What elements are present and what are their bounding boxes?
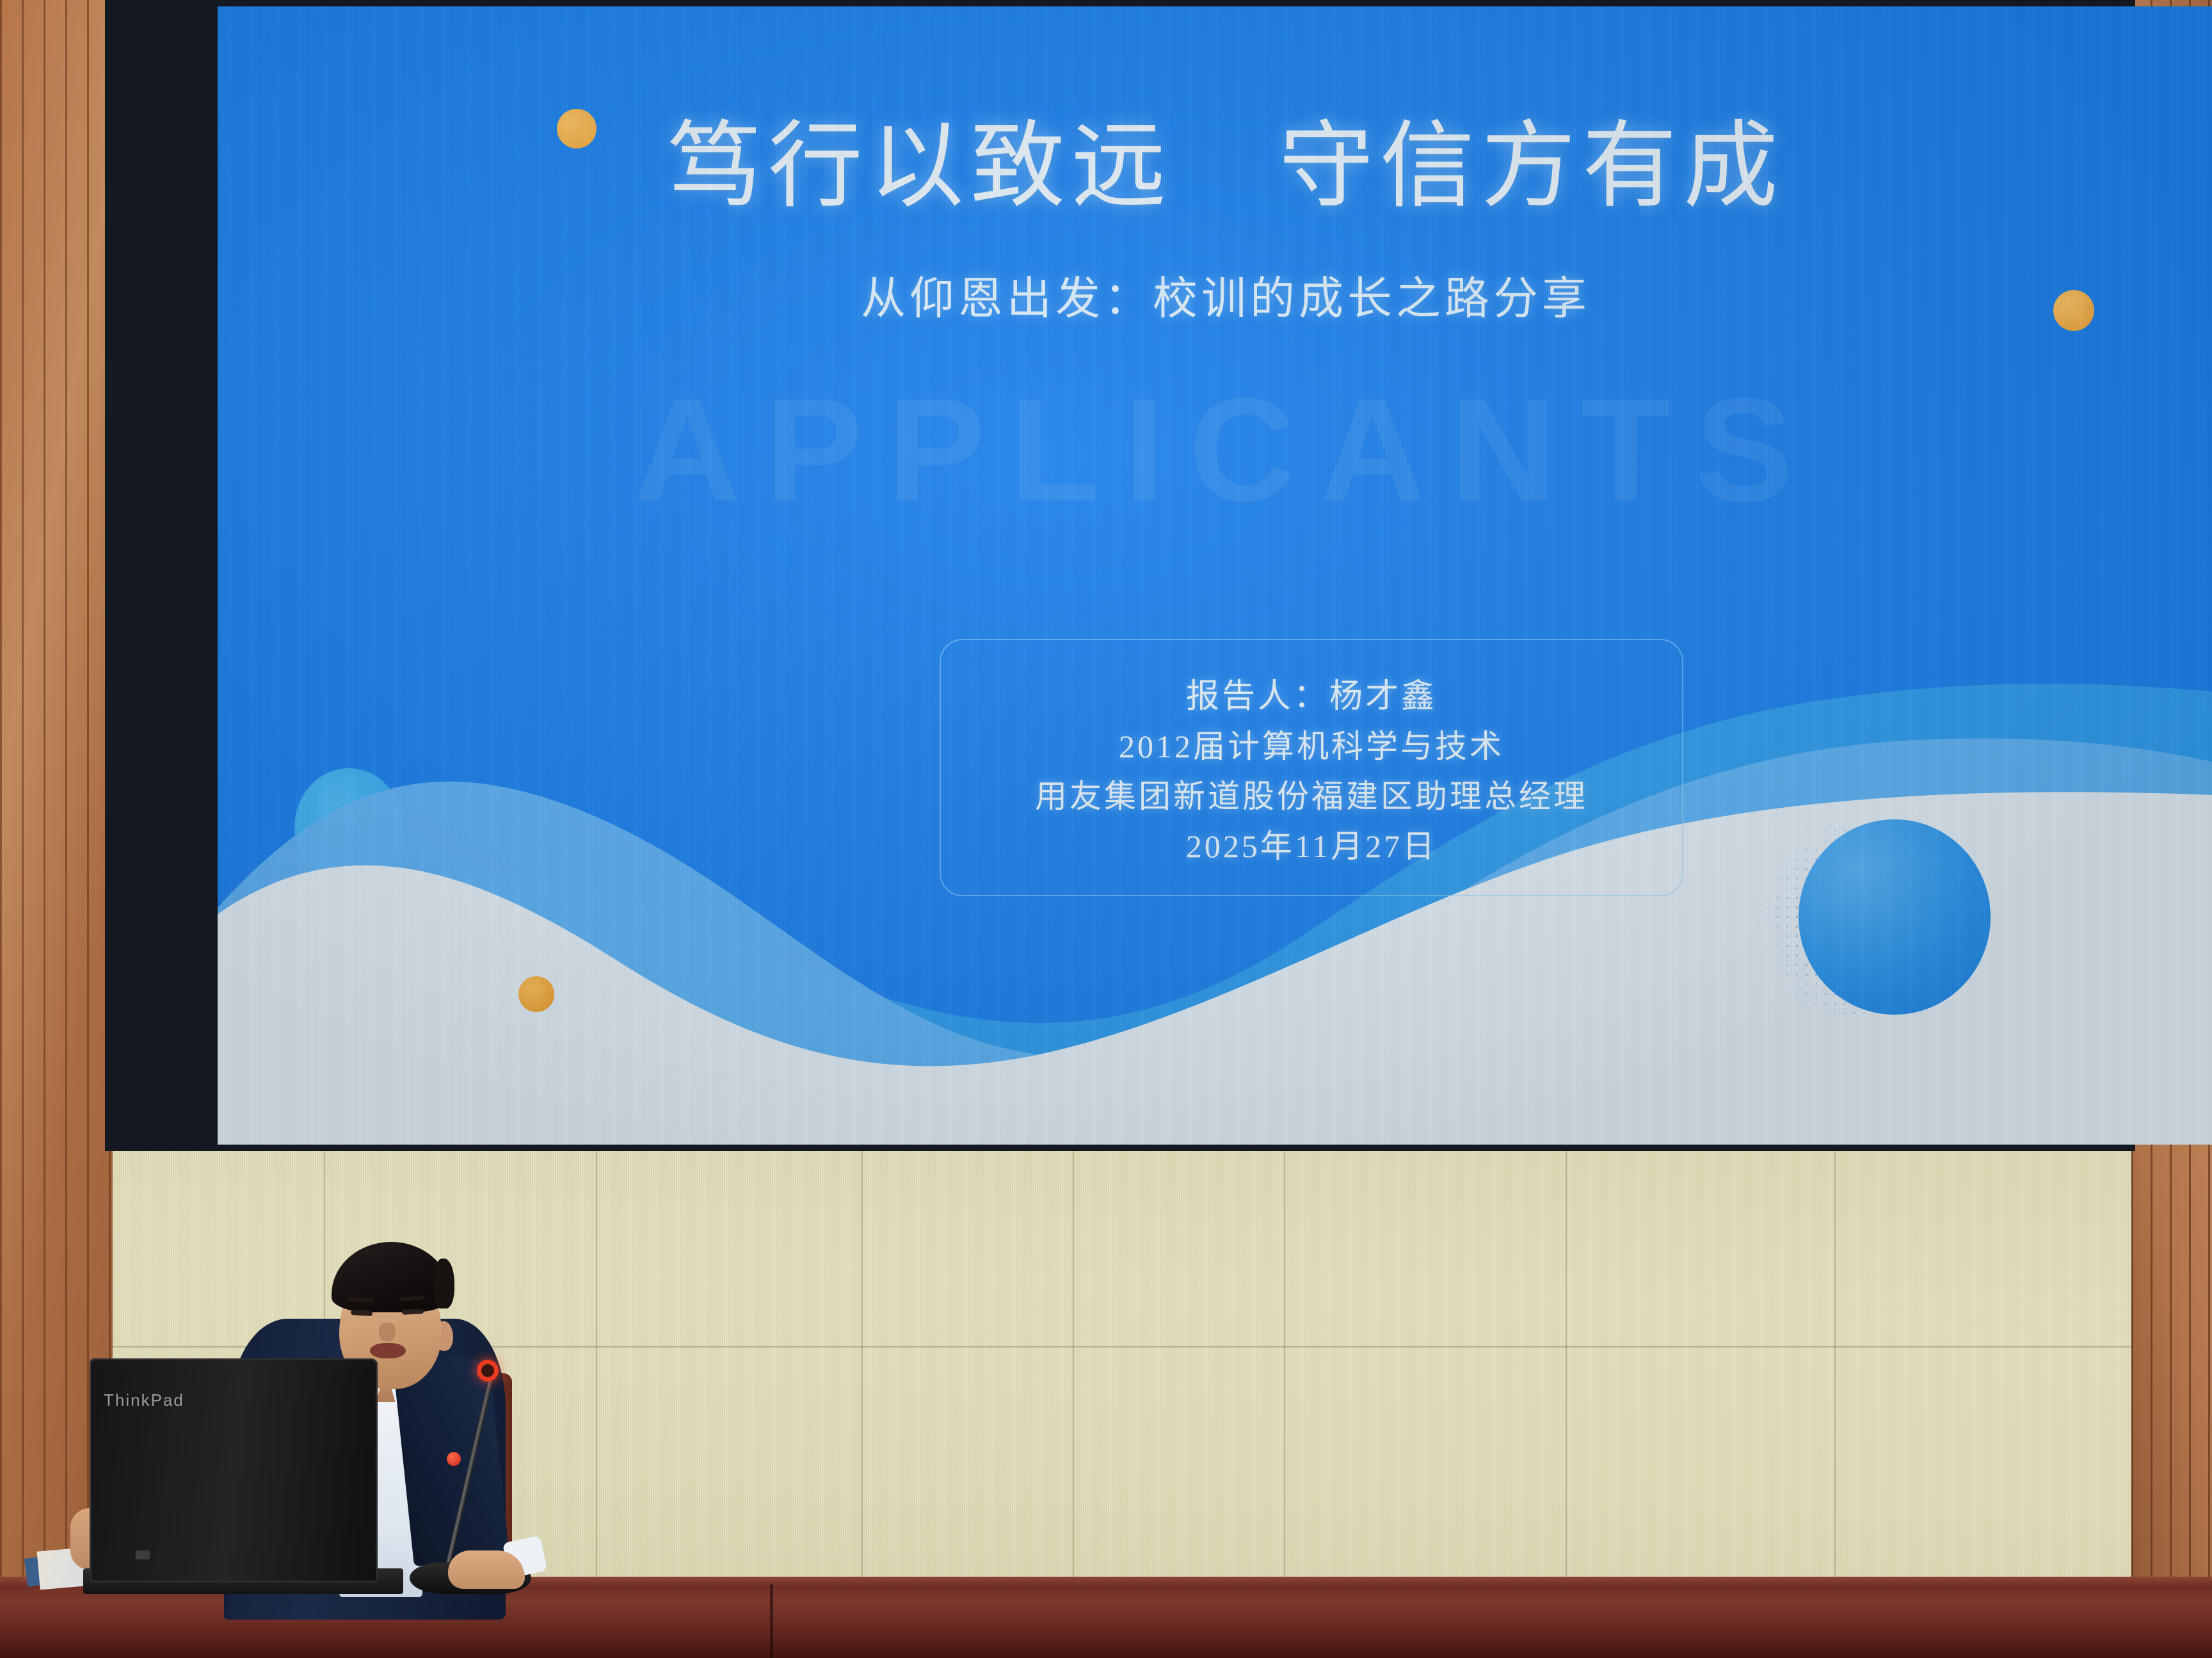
microphone-led-ring <box>477 1360 499 1381</box>
laptop-brand-mark: ThinkPad <box>104 1390 184 1410</box>
hair <box>332 1242 451 1312</box>
slide-title: 笃行以致远 守信方有成 <box>218 117 2212 219</box>
blue-sphere-icon <box>1799 819 1991 1015</box>
laptop-screen-lid: ThinkPad <box>90 1358 378 1582</box>
led-screen: APPLICANTS 笃行以致远 <box>218 6 2212 1145</box>
presenter-class-line: 2012届计算机科学与技术 <box>1119 721 1504 767</box>
presenter-position-line: 用友集团新道股份福建区助理总经理 <box>1035 771 1588 817</box>
slide-text-block: 笃行以致远 守信方有成 从仰恩出发：校训的成长之路分享 <box>218 6 2212 327</box>
slide-subtitle: 从仰恩出发：校训的成长之路分享 <box>218 262 2212 327</box>
slide-title-part-1: 笃行以致远 <box>667 115 1173 220</box>
right-hand <box>448 1550 525 1589</box>
conference-room: APPLICANTS 笃行以致远 <box>0 0 2212 1658</box>
presentation-date-line: 2025年11月27日 <box>1186 821 1437 867</box>
presenter-figure: ThinkPad <box>0 1191 576 1658</box>
slide-title-part-2: 守信方有成 <box>1279 115 1784 220</box>
nose <box>379 1323 396 1342</box>
slide-watermark: APPLICANTS <box>218 365 2212 535</box>
mouth <box>370 1343 406 1358</box>
desk-seam <box>770 1584 773 1658</box>
presenter-name-line: 报告人：杨才鑫 <box>1186 669 1437 717</box>
orange-dot-icon <box>518 976 554 1012</box>
led-screen-bezel: APPLICANTS 笃行以致远 <box>105 0 2135 1151</box>
lapel-pin <box>447 1452 461 1466</box>
laptop-label <box>136 1550 150 1559</box>
presenter-info-card: 报告人：杨才鑫 2012届计算机科学与技术 用友集团新道股份福建区助理总经理 2… <box>940 639 1683 896</box>
